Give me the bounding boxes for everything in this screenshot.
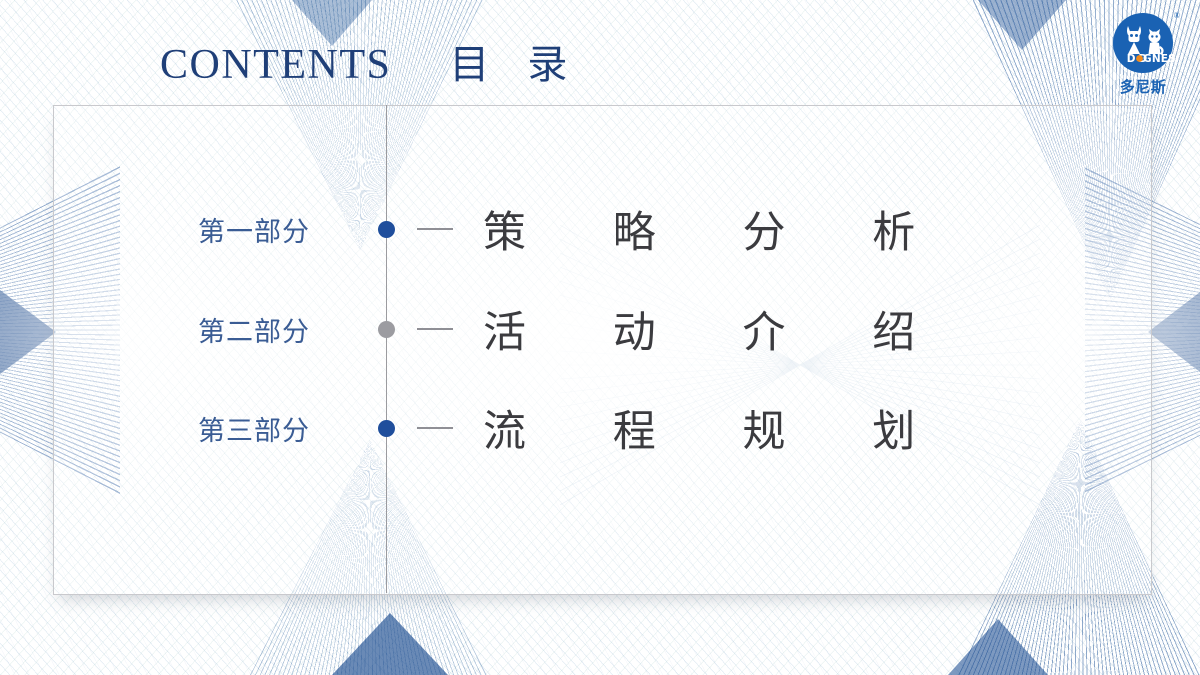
contents-list: 第一部分 策 略 分 析 第二部分 活 动 介 绍 第三部分 流 程 规 划 [0, 0, 1200, 675]
slide-contents: CONTENTS 目 录 [0, 0, 1200, 675]
list-item[interactable]: 第二部分 活 动 介 绍 [0, 301, 1200, 357]
list-item-bullet-icon [378, 321, 395, 338]
list-item-title: 流 程 规 划 [483, 397, 953, 459]
svg-text:GNESS: GNESS [1143, 53, 1178, 65]
list-item-label: 第一部分 [198, 210, 358, 249]
list-item-bullet-icon [378, 420, 395, 437]
brand-logo[interactable]: D GNESS D ® 多尼斯 [1100, 10, 1186, 97]
logo-mark: D GNESS D ® [1108, 10, 1178, 80]
list-item-dash-icon [417, 228, 453, 230]
registered-trademark-icon: ® [1174, 11, 1180, 20]
svg-text:D: D [1127, 53, 1136, 65]
dogness-logo-icon: D GNESS D [1108, 10, 1178, 80]
list-item-title: 策 略 分 析 [483, 198, 953, 260]
list-item-bullet-icon [378, 221, 395, 238]
list-item[interactable]: 第一部分 策 略 分 析 [0, 201, 1200, 257]
list-item-label: 第二部分 [198, 310, 358, 349]
list-item-title: 活 动 介 绍 [483, 298, 953, 360]
list-item[interactable]: 第三部分 流 程 规 划 [0, 400, 1200, 456]
list-item-dash-icon [417, 427, 453, 429]
list-item-dash-icon [417, 328, 453, 330]
list-item-label: 第三部分 [198, 409, 358, 448]
